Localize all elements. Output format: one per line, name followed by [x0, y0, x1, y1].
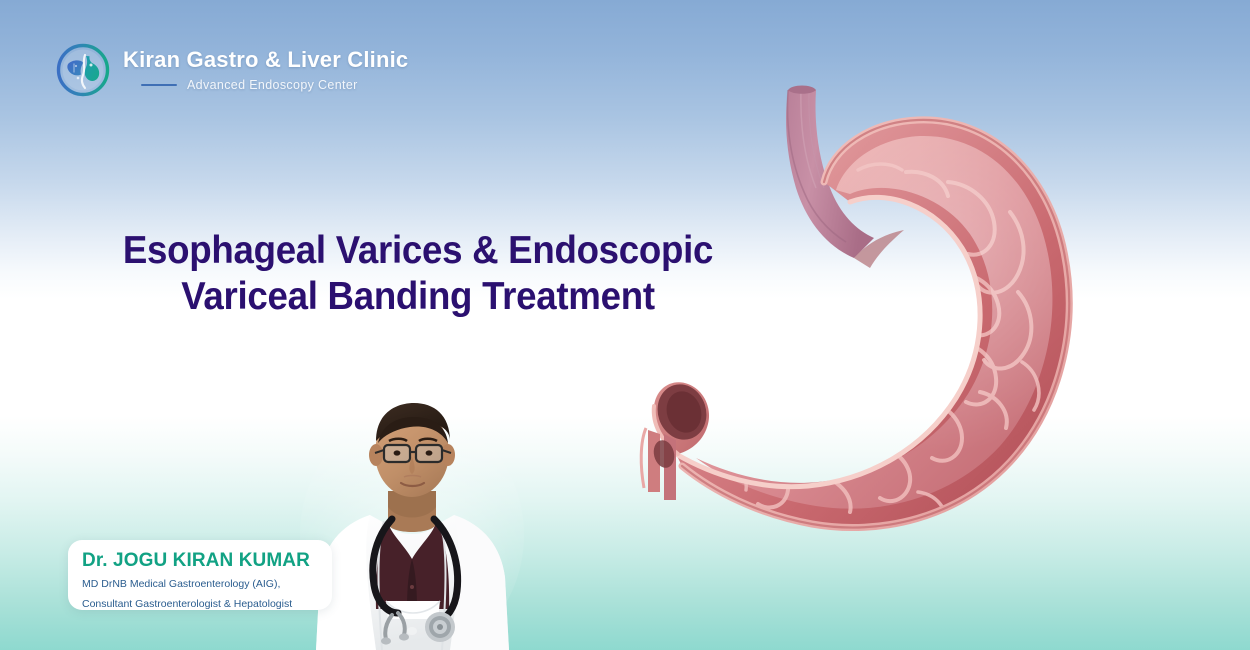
clinic-name: Kiran Gastro & Liver Clinic: [123, 48, 408, 72]
clinic-logo-block[interactable]: Kiran Gastro & Liver Clinic Advanced End…: [55, 42, 408, 98]
clinic-logo-text: Kiran Gastro & Liver Clinic Advanced End…: [123, 48, 408, 91]
doctor-credential-line-1: MD DrNB Medical Gastroenterology (AIG),: [82, 577, 332, 592]
anatomical-stomach-illustration-icon: [618, 62, 1148, 562]
liver-stomach-circle-logo-icon: [55, 42, 111, 98]
clinic-promo-banner: Kiran Gastro & Liver Clinic Advanced End…: [0, 0, 1250, 650]
doctor-name-card: Dr. JOGU KIRAN KUMAR MD DrNB Medical Gas…: [68, 540, 332, 610]
doctor-portrait-photo-icon: [300, 395, 525, 650]
tagline-divider-rule: [141, 84, 177, 86]
clinic-tagline: Advanced Endoscopy Center: [187, 78, 358, 92]
tagline-row: Advanced Endoscopy Center: [123, 78, 408, 92]
doctor-credential-line-2: Consultant Gastroenterologist & Hepatolo…: [82, 597, 332, 612]
doctor-name: Dr. JOGU KIRAN KUMAR: [82, 551, 332, 572]
